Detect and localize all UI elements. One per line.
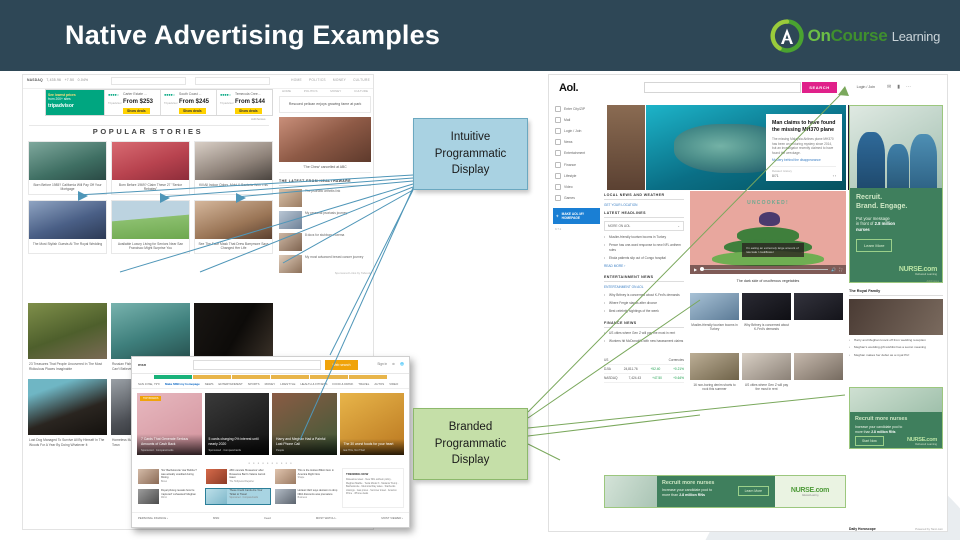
callout-line-3: Display	[435, 452, 507, 469]
promo-cell	[349, 375, 387, 379]
rail-promo[interactable]: Rescued pelican enjoys growing fame at p…	[279, 96, 371, 113]
list-item-source: Sponsored · CompareCards	[229, 497, 269, 499]
list-item[interactable]: Pence has one-word response to new NFL a…	[604, 243, 684, 252]
msn-hero-caption: 5 cards charging 0% interest until nearl…	[205, 434, 270, 455]
sidebar-item-login[interactable]: Login / Join	[553, 125, 600, 136]
story-card[interactable]: Born Before 1969? Claim These 27 "Senior…	[111, 141, 190, 195]
horoscope-sponsor: Powered by Tarot.com	[915, 527, 943, 531]
entertainment-heading: ENTERTAINMENT NEWS	[604, 275, 684, 282]
list-item-source: Business	[298, 497, 338, 499]
msn-nav-news[interactable]: NEWS	[205, 382, 214, 386]
story-thumbnail	[690, 353, 739, 380]
nurse-ad-body-1: Put your message	[856, 216, 890, 221]
list-item-thumbnail	[279, 233, 302, 251]
story-thumbnail	[742, 293, 791, 320]
nurse-figure	[887, 144, 909, 188]
msn-grid-row: 'Six' Bachelorette' star Bubba T was act…	[137, 468, 339, 485]
sidebar-label: News	[564, 140, 572, 144]
story-card[interactable]: The Most Stylish Guests At The Royal Wed…	[28, 200, 107, 254]
story-card[interactable]: See The Face Mask That Drew Barrymore Sa…	[194, 200, 273, 254]
page-title: Native Advertising Examples	[65, 20, 440, 51]
rail-nav[interactable]: HOME POLITICS MONEY CULTURE	[279, 89, 371, 96]
msn-hero-caption: Harry and Meghan Had a Painful Last Phon…	[272, 434, 337, 455]
list-item-source: Bravo	[161, 481, 201, 483]
hero-link[interactable]: Mystery behind the disappearance	[772, 158, 836, 163]
news-search-input-2[interactable]	[195, 77, 270, 85]
carousel-dots[interactable]: ● ● ● ● ● ● ● ● ● ●	[132, 459, 409, 468]
tripadvisor-hotel-cell[interactable]: ●●●●○ Temecula Cree... Tripadvisor From …	[216, 90, 272, 115]
chevron-down-icon: ⌄	[677, 224, 680, 228]
slide-header: Native Advertising Examples OnCourse Lea…	[0, 0, 960, 71]
msn-search-input[interactable]	[193, 360, 321, 370]
story-thumbnail	[111, 303, 190, 359]
list-item[interactable]: Muslim-friendly tourism booms in Turkey	[604, 235, 684, 240]
nursecom-logo-sub: Delivered Learning	[775, 494, 845, 497]
list-item[interactable]: Meghan makes her debut as a royal Pic!	[849, 353, 943, 357]
video-controls[interactable]: ▶ 🔊 ⛶	[690, 265, 846, 274]
nursecom-logo-sub: Delivered Learning	[907, 443, 937, 446]
nurse-ad-photo	[850, 388, 942, 412]
msn-grid-row: Royal photog reveals how he 'captured' '…	[137, 488, 339, 505]
msn-nav-entertainment[interactable]: ENTERTAINMENT	[218, 382, 242, 386]
story-card[interactable]: Born Before 1985? California Will Pay Of…	[28, 141, 107, 195]
story-caption: Kill All Indoor Odors, Mold & Bacteria W…	[195, 180, 272, 194]
nurse-ad-body-2: in front of	[856, 221, 875, 226]
hotel-provider: Tripadvisor	[164, 101, 178, 105]
msn-nav[interactable]: SAN JOSE, 73°F Make MSN my homepage NEWS…	[132, 380, 409, 389]
nurse-ad-body-1: Increase your candidate pool to	[662, 488, 712, 492]
tripadvisor-logo: tripadvisor	[48, 103, 102, 109]
list-item-source: Shape	[298, 477, 338, 479]
footer-most-viewed[interactable]: MOST VIEWED ›	[381, 516, 403, 520]
entertainment-icon	[555, 150, 561, 156]
story-card[interactable]: US cities where Gen Z will pay the most …	[742, 353, 791, 395]
story-thumbnail	[112, 201, 189, 239]
sidebar-label: Login / Join	[564, 129, 581, 133]
hero-counter-row: 8/71 ‹ ›	[772, 173, 836, 178]
list-item[interactable]: The psoriatic arthritis link	[279, 189, 371, 207]
hero-arrows[interactable]: ‹ ›	[833, 174, 836, 178]
msn-hero-sub: Sponsored · CompareCards	[209, 449, 266, 453]
story-row: The Most Stylish Guests At The Royal Wed…	[28, 200, 273, 254]
market-change: +52.40	[650, 367, 660, 371]
ticker-change: +7.50	[65, 78, 75, 82]
aol-login-link[interactable]: Login / Join	[857, 85, 875, 89]
story-card[interactable]	[794, 353, 843, 395]
list-item-label: Hottest CEO says decision to drop NRA di…	[298, 489, 338, 496]
list-item-source: Mirror	[161, 497, 201, 499]
promo-cell	[193, 375, 231, 379]
msn-nav-zip[interactable]: SAN JOSE, 73°F	[138, 382, 160, 386]
list-item[interactable]: Meghan's wedding gift wishlist has a sec…	[849, 345, 943, 349]
finance-icon	[555, 162, 561, 168]
hotel-name: South Coast ...	[179, 92, 201, 96]
story-card[interactable]	[794, 293, 843, 335]
list-item-source: The Hollywood Reporter	[229, 481, 269, 483]
sponsored-badge: TOP BRANDS	[140, 396, 161, 401]
latest-source-select[interactable]: MORE ON AOL⌄	[604, 221, 684, 231]
nurse-com-sidebar-ad[interactable]: Recruit. Brand. Engage. Put your message…	[849, 105, 943, 283]
story-thumbnail	[28, 379, 107, 435]
nursecom-logo-main: NURSE	[899, 266, 922, 273]
msn-nav-lifestyle[interactable]: LIFESTYLE	[280, 382, 295, 386]
screenshot-right-aol: Aol. SEARCH Login / Join ✉ ▮ ⋯ Enter Cit…	[548, 74, 948, 532]
nurse-figure	[857, 132, 885, 188]
list-item[interactable]: This is the Hottest Bikini Item in Ameri…	[274, 468, 339, 485]
video-progress-bar[interactable]	[700, 269, 828, 271]
list-item[interactable]: My most advanced breast cancer journey	[279, 255, 371, 273]
market-name: DJIA	[604, 367, 611, 371]
callout-text: Branded Programmatic Display	[435, 419, 507, 469]
ticker: NASDAQ 7,435.96 +7.50 0.04%	[27, 78, 88, 82]
aol-sidebar: Enter City/ZIP Mail Login / Join News En…	[553, 103, 600, 234]
horoscope-header: Daily HoroscopePowered by Tarot.com	[849, 527, 943, 532]
show-deals-button[interactable]: Show deals	[179, 108, 206, 114]
royal-heading: The Royal Family	[849, 289, 943, 296]
daily-horoscope-module[interactable]: Daily HoroscopePowered by Tarot.com	[849, 527, 943, 532]
phone-icon[interactable]: ▮	[897, 84, 900, 90]
msn-hero-title: Harry and Meghan Had a Painful Last Phon…	[276, 437, 325, 446]
callout-branded-programmatic-display[interactable]: Branded Programmatic Display	[413, 408, 528, 480]
nurse-ad-body-1: Increase your candidate pool to	[855, 425, 902, 429]
nurse-ad-body-text: Put your message in front of 2.8 million…	[856, 216, 936, 234]
location-icon	[555, 106, 561, 112]
story-card[interactable]: Available Luxury Living for Seniors Near…	[111, 200, 190, 254]
ticker-label: NASDAQ	[27, 78, 43, 82]
market-change: +47.50	[652, 376, 662, 380]
aol-search-input[interactable]	[644, 82, 801, 93]
story-caption: Why Britney is concerned about K-Fed's d…	[742, 320, 791, 335]
hero-caption-card: Man claims to have found the missing MH3…	[766, 114, 842, 181]
nurse-ad-body-bold: 2.8 million RNs	[679, 493, 705, 497]
aol-header-icons[interactable]: ✉ ▮ ⋯	[887, 84, 911, 90]
latest-heading: THE LATEST FROM HEALTHAWARE	[279, 179, 371, 186]
nursecom-logo: NURSE.comDelivered Learning	[775, 487, 845, 497]
rail-image	[279, 117, 371, 162]
learn-more-button[interactable]: Learn More	[738, 486, 769, 496]
list-item[interactable]: ABC cancels 'Roseanne' after Roseanne Ba…	[205, 468, 270, 485]
hotel-price: From $144	[235, 99, 265, 105]
list-item-thumbnail	[275, 469, 296, 484]
adchoices-label[interactable]: AdChoices	[251, 117, 266, 121]
nurse-figure	[910, 134, 938, 188]
msn-nav-sports[interactable]: SPORTS	[248, 382, 260, 386]
list-item[interactable]: Best celebrity sightings of the week	[604, 309, 684, 314]
finance-heading: FINANCE NEWS	[604, 321, 684, 328]
nav-item-politics[interactable]: POLITICS	[309, 78, 326, 82]
latest-source-label: MORE ON AOL	[608, 224, 630, 228]
story-thumbnail	[29, 201, 106, 239]
story-thumbnail	[29, 142, 106, 180]
sidebar-label: Mail	[564, 118, 570, 122]
nurse-ad-body-2: more than	[855, 430, 871, 434]
rail-nav-money[interactable]: MONEY	[330, 89, 341, 93]
list-item[interactable]: 'Six' Bachelorette' star Bubba T was act…	[137, 468, 202, 485]
msn-hero-card[interactable]: Harry and Meghan Had a Painful Last Phon…	[272, 393, 337, 455]
logo-on: On	[808, 26, 831, 45]
list-item[interactable]: 8 docs for stubborn eczema	[279, 233, 371, 251]
msn-nav-video[interactable]: VIDEO	[389, 382, 398, 386]
aol-video-player[interactable]: UNCOOKED! I'm eating an extremely large …	[690, 191, 846, 287]
footer-most-watch[interactable]: MOST WATCH ›	[316, 516, 336, 520]
sidebar-label: Enter City/ZIP	[564, 107, 585, 111]
list-item-label: The psoriatic arthritis link	[305, 189, 340, 193]
table-row: DJIA24,811.76+52.40+0.21%	[604, 365, 684, 374]
msn-hero-caption: 7 Cards That Generate Serious Amounts of…	[137, 434, 202, 455]
footer-personal-finance[interactable]: PERSONAL FINANCE ›	[138, 516, 168, 520]
nurse-ad-body-2: more than	[662, 493, 679, 497]
msn-hero-card[interactable]: TOP BRANDS 7 Cards That Generate Serious…	[137, 393, 202, 455]
story-caption: Born Before 1985? California Will Pay Of…	[29, 180, 106, 194]
nav-item-home[interactable]: HOME	[291, 78, 302, 82]
aol-search-button[interactable]: SEARCH	[802, 82, 837, 93]
aol-hero-carousel[interactable]: Man claims to have found the missing MH3…	[646, 105, 846, 190]
play-icon[interactable]: ▶	[694, 267, 697, 272]
list-item-sponsored-highlighted[interactable]: These Credit Cards Are Your Ticket to Tr…	[205, 488, 270, 505]
list-item-thumbnail	[279, 189, 302, 207]
story-card[interactable]: 23 Treasures That People Uncovered In Th…	[28, 303, 107, 374]
callout-line-1: Intuitive	[435, 129, 507, 146]
video-tooltip: I'm eating an extremely large amount of …	[742, 243, 804, 257]
nurse-ad-headline-2: Brand. Engage.	[856, 203, 936, 212]
mail-icon[interactable]: ✉	[887, 84, 891, 90]
news-right-rail: HOME POLITICS MONEY CULTURE Rescued peli…	[279, 89, 371, 277]
get-location-link[interactable]: GET YOUR LOCATION	[604, 203, 684, 207]
popular-stories-grid: Born Before 1985? California Will Pay Of…	[28, 141, 273, 259]
read-more-link[interactable]: READ MORE ›	[604, 264, 684, 268]
show-deals-button[interactable]: Show deals	[235, 108, 262, 114]
video-progress-handle	[700, 267, 704, 271]
callout-line-1: Branded	[435, 419, 507, 436]
market-table: USCurrencies DJIA24,811.76+52.40+0.21% N…	[604, 356, 684, 383]
rail-nav-culture[interactable]: CULTURE	[354, 89, 368, 93]
story-card[interactable]: Kill All Indoor Odors, Mold & Bacteria W…	[194, 141, 273, 195]
list-item[interactable]: Workers hit McDonald's with new harassme…	[604, 339, 684, 344]
story-thumbnail	[28, 303, 107, 359]
list-item-label: My personal psoriasis journey	[305, 211, 347, 215]
news-icon	[555, 139, 561, 145]
popular-stories-heading: POPULAR STORIES	[23, 127, 273, 136]
market-tab-currencies[interactable]: Currencies	[669, 358, 684, 362]
list-item[interactable]: Royal photog reveals how he 'captured' '…	[137, 488, 202, 505]
story-caption: Available Luxury Living for Seniors Near…	[112, 239, 189, 253]
msn-nav-food[interactable]: FOOD & DRINK	[332, 382, 353, 386]
msn-hero-sub: People	[276, 449, 333, 453]
story-card[interactable]: 16 non-boring denim shorts to rock this …	[690, 353, 739, 395]
list-item-thumbnail	[275, 489, 296, 504]
hero-counter: 8/71	[772, 174, 779, 178]
story-card[interactable]: Why Britney is concerned about K-Fed's d…	[742, 293, 791, 335]
msn-web-search-button[interactable]: Web search	[325, 360, 358, 370]
hotel-price: From $253	[123, 99, 153, 105]
list-item-label: These Credit Cards Are Your Ticket to Tr…	[229, 489, 269, 496]
fullscreen-icon[interactable]: ⛶	[839, 267, 842, 272]
nurse-ad-headline-1: Recruit.	[856, 194, 936, 203]
nurse-ad-body-3: nurses	[856, 227, 870, 232]
msn-hero-row: TOP BRANDS 7 Cards That Generate Serious…	[132, 389, 409, 459]
msn-nav-travel[interactable]: TRAVEL	[358, 382, 369, 386]
trending-text: Roseanne tweet · New NFL anthem policy ·…	[346, 478, 400, 496]
msn-hero-card[interactable]: The 30 worst foods for your heartEat Thi…	[340, 393, 405, 455]
chevron-left-icon[interactable]: ‹	[833, 174, 834, 178]
msn-hero-title: The 30 worst foods for your heart	[344, 442, 394, 446]
start-now-button[interactable]: Start Now	[855, 436, 884, 446]
lifestyle-icon	[555, 173, 561, 179]
story-thumbnail	[794, 353, 843, 380]
table-row: NASDAQ7,424.43+47.50+0.64%	[604, 374, 684, 383]
msn-footer[interactable]: PERSONAL FINANCE › MSN Feed MOST WATCH ›…	[132, 512, 409, 523]
tripadvisor-hotel-cell[interactable]: ●●●●○ Carter Estate ... Tripadvisor From…	[104, 90, 160, 115]
story-caption: Born Before 1969? Claim These 27 "Senior…	[112, 180, 189, 194]
gear-icon[interactable]: ⚙	[392, 362, 395, 366]
list-item-thumbnail	[138, 469, 159, 484]
video-title: UNCOOKED!	[690, 200, 846, 206]
list-item-label: My most advanced breast cancer journey	[305, 255, 363, 259]
list-item-thumbnail	[138, 489, 159, 504]
chevron-right-icon[interactable]: ›	[835, 174, 836, 178]
callout-line-2: Programmatic	[435, 146, 507, 163]
list-item[interactable]: Why Britney is concerned about K-Fed's d…	[604, 293, 684, 298]
entertainment-source[interactable]: ENTERTAINMENT ON AOL	[604, 285, 684, 289]
sidebar-item-mail[interactable]: Mail	[553, 114, 600, 125]
nurse-ad-adchoices[interactable]: AdChoices	[926, 280, 939, 283]
menu-icon[interactable]: ⋯	[906, 84, 911, 90]
callout-line-2: Programmatic	[435, 436, 507, 453]
list-item[interactable]: Where Fergie stands after divorce	[604, 301, 684, 306]
story-thumbnail	[194, 303, 273, 359]
nurse-com-leaderboard-ad[interactable]: Recruit more nurses Increase your candid…	[604, 475, 846, 508]
market-percent: +0.21%	[673, 367, 684, 371]
msn-hero-title: 5 cards charging 0% interest until nearl…	[209, 437, 259, 446]
list-item-thumbnail	[206, 469, 227, 484]
story-card[interactable]: Muslim-friendly tourism booms in Turkey	[690, 293, 739, 335]
rail-nav-politics[interactable]: POLITICS	[304, 89, 318, 93]
globe-icon[interactable]: 🌐	[400, 362, 404, 366]
sidebar-item-games[interactable]: Games	[553, 193, 600, 204]
sidebar-item-video[interactable]: Video	[553, 181, 600, 192]
hero-prev-slide[interactable]	[607, 105, 645, 190]
sidebar-item-finance[interactable]: Finance	[553, 159, 600, 170]
user-icon	[555, 128, 561, 134]
callout-intuitive-programmatic-display[interactable]: Intuitive Programmatic Display	[413, 118, 528, 190]
list-item[interactable]: My personal psoriasis journey	[279, 211, 371, 229]
nursecom-logo: NURSE.comDelivered Learning	[907, 437, 937, 446]
nurse-ad-body-bold: 2.8 million	[875, 221, 895, 226]
list-item[interactable]: US cities where Gen Z will pay the most …	[604, 331, 684, 336]
list-item-label: This is the Hottest Bikini Item in Ameri…	[298, 469, 338, 476]
tripadvisor-ad[interactable]: See lowest prices from 200+ sites tripad…	[45, 89, 273, 116]
story-caption: The Most Stylish Guests At The Royal Wed…	[29, 239, 106, 253]
msn-hero-sub: Eat This, Not That!	[344, 449, 401, 453]
aol-header: Aol. SEARCH Login / Join ✉ ▮ ⋯	[549, 75, 947, 101]
games-icon	[555, 195, 561, 201]
nav-item-culture[interactable]: CULTURE	[353, 78, 370, 82]
list-item-label: ABC cancels 'Roseanne' after Roseanne Ba…	[229, 469, 269, 480]
list-item-thumbnail	[279, 211, 302, 229]
list-item[interactable]: Hottest CEO says decision to drop NRA di…	[274, 488, 339, 505]
hotel-price: From $245	[179, 99, 209, 105]
story-thumbnail	[112, 142, 189, 180]
hotel-provider: Tripadvisor	[108, 101, 122, 105]
promo-cell	[310, 375, 348, 379]
market-tabs[interactable]: USCurrencies	[604, 356, 684, 365]
list-item[interactable]: Ebola patients slip out of Congo hospita…	[604, 256, 684, 261]
msn-header-right[interactable]: Sign in ⚙ 🌐	[377, 362, 404, 366]
news-search-input[interactable]	[111, 77, 186, 85]
mail-icon	[555, 117, 561, 123]
learn-more-button[interactable]: Learn More	[856, 239, 892, 252]
rail-nav-home[interactable]: HOME	[282, 89, 291, 93]
brand-wordmark: OnCourse Learning	[808, 26, 940, 46]
market-tab-us[interactable]: US	[604, 358, 608, 362]
rail-image-caption: 'The Chew' cancelled at ABC	[279, 162, 371, 173]
nav-item-money[interactable]: MONEY	[333, 78, 346, 82]
footer-msn[interactable]: MSN	[213, 516, 219, 520]
hero-meta: Related: History	[772, 166, 836, 173]
story-thumbnail	[195, 142, 272, 180]
story-caption: Lost Dog Managed To Survive All By Himse…	[28, 435, 107, 450]
sidebar-item-lifestyle[interactable]: Lifestyle	[553, 170, 600, 181]
sidebar-label: Finance	[564, 163, 576, 167]
volume-icon[interactable]: 🔊	[831, 267, 836, 272]
ticker-percent: 0.04%	[78, 78, 89, 82]
footer-feed[interactable]: Feed	[264, 516, 270, 520]
sidebar-item-location[interactable]: Enter City/ZIP	[553, 103, 600, 114]
local-news-heading: LOCAL NEWS AND WEATHER	[604, 193, 684, 200]
sidebar-item-entertainment[interactable]: Entertainment	[553, 148, 600, 159]
list-item[interactable]: Harry and Meghan knock off from wedding …	[849, 338, 943, 342]
news-nav[interactable]: HOME POLITICS MONEY CULTURE	[291, 78, 370, 82]
market-percent: +0.64%	[673, 376, 684, 380]
tripadvisor-hotel-cell[interactable]: ●●●●○ South Coast ... Tripadvisor From $…	[160, 90, 216, 115]
sidebar-label: Video	[564, 185, 573, 189]
nurse-ad-body-text: Increase your candidate pool to more tha…	[855, 425, 937, 435]
list-item-label: 'Six' Bachelorette' star Bubba T was act…	[161, 469, 201, 480]
list-item-thumbnail	[206, 489, 227, 504]
nurse-com-small-ad[interactable]: Recruit more nurses Increase your candid…	[849, 387, 943, 449]
story-thumbnail	[690, 293, 739, 320]
nurse-ad-body: Recruit. Brand. Engage. Put your message…	[850, 188, 942, 283]
hero-body: The missing Malaysia Airlines plane MH37…	[772, 137, 836, 156]
trending-heading: TRENDING NOW	[346, 472, 400, 476]
story-caption: See The Face Mask That Drew Barrymore Sa…	[195, 239, 272, 253]
nurse-ad-body: Recruit more nurses Increase your candid…	[657, 476, 775, 507]
tripadvisor-ad-brand: See lowest prices from 200+ sites tripad…	[46, 90, 104, 115]
callout-text: Intuitive Programmatic Display	[435, 129, 507, 179]
divider	[29, 125, 269, 126]
sign-in-link[interactable]: Sign in	[377, 362, 387, 366]
nurse-ad-body-bold: 2.8 million RNs	[871, 430, 895, 434]
nurse-ad-body: Recruit more nurses Increase your candid…	[850, 412, 942, 449]
show-deals-button[interactable]: Show deals	[123, 108, 150, 114]
msn-make-homepage[interactable]: Make MSN my homepage	[165, 382, 200, 386]
story-caption	[794, 320, 843, 326]
sidebar-item-news[interactable]: News	[553, 137, 600, 148]
msn-hero-card[interactable]: 5 cards charging 0% interest until nearl…	[205, 393, 270, 455]
make-homepage-button[interactable]: ✛MAKE AOL MY HOMEPAGE	[553, 208, 600, 225]
latest-headlines-heading: LATEST HEADLINES	[604, 211, 684, 218]
msn-nav-money[interactable]: MONEY	[265, 382, 276, 386]
slide: Native Advertising Examples OnCourse Lea…	[0, 0, 960, 540]
aol-version: 9.7.1	[553, 224, 600, 234]
msn-nav-health[interactable]: HEALTH & FITNESS	[300, 382, 327, 386]
msn-nav-autos[interactable]: AUTOS	[374, 382, 384, 386]
nurse-ad-headline: Recruit more nurses	[855, 416, 937, 423]
story-card[interactable]: Lost Dog Managed To Survive All By Himse…	[28, 379, 107, 450]
hotel-provider: Tripadvisor	[220, 101, 234, 105]
market-value: 24,811.76	[624, 367, 638, 371]
ta-headline-2: from 200+ sites	[48, 97, 102, 101]
